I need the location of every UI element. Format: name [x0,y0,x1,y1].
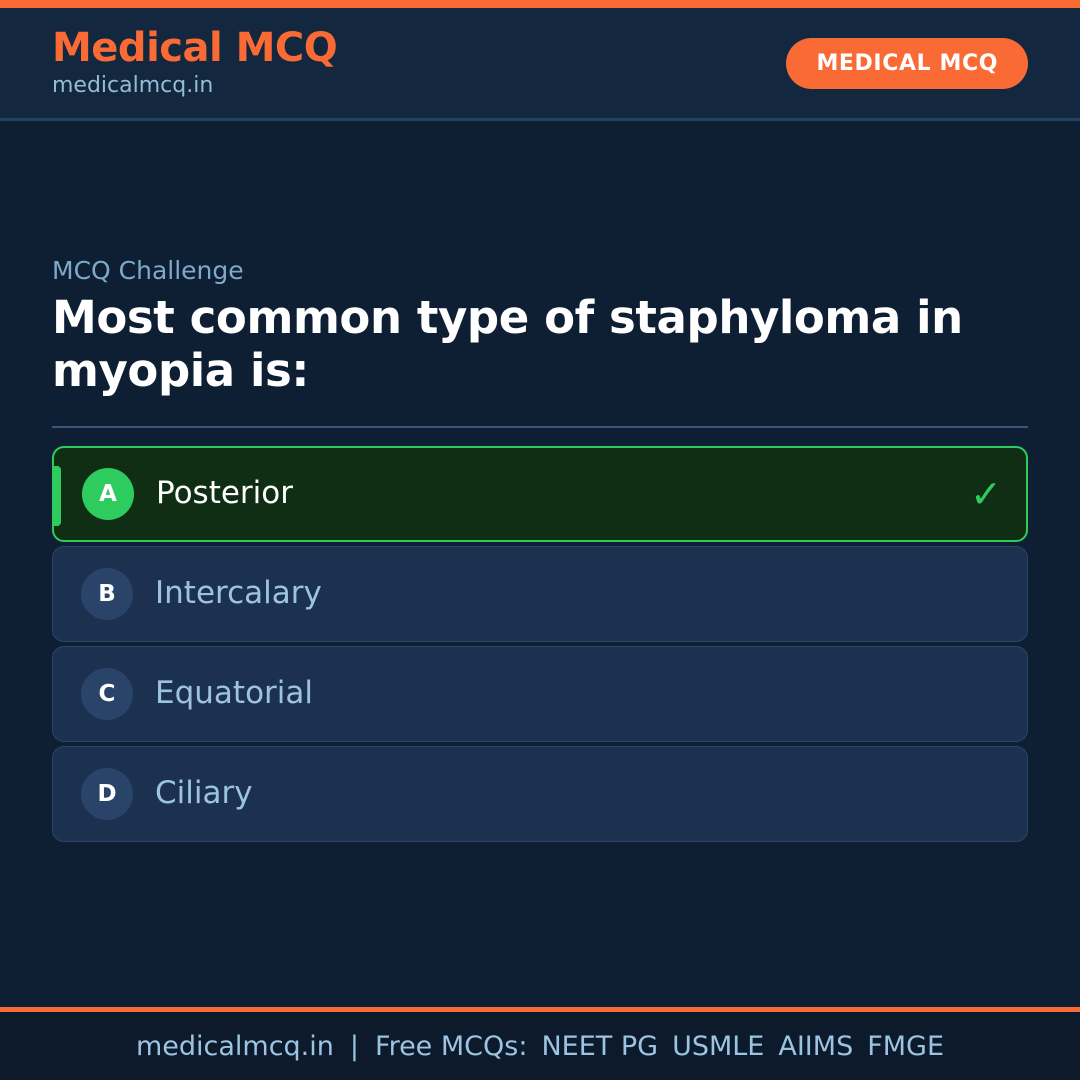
option-letter-badge: D [81,768,133,820]
brand-block: Medical MCQ medicalmcq.in [52,26,337,100]
check-icon: ✓ [970,475,1002,513]
option-letter-badge: C [81,668,133,720]
option-d[interactable]: D Ciliary [52,746,1028,842]
brand-title: Medical MCQ [52,26,337,70]
footer-exam-fmge: FMGE [867,1031,944,1062]
question-divider [52,426,1028,428]
question-text: Most common type of staphyloma in myopia… [52,292,1028,397]
footer-site: medicalmcq.in [136,1031,334,1062]
correct-accent-bar [54,466,61,526]
footer-text: medicalmcq.in|Free MCQs:NEET PGUSMLEAIIM… [136,1031,944,1062]
footer: medicalmcq.in|Free MCQs:NEET PGUSMLEAIIM… [0,1007,1080,1080]
option-c[interactable]: C Equatorial [52,646,1028,742]
brand-subtitle: medicalmcq.in [52,72,337,100]
header-badge: MEDICAL MCQ [786,38,1028,89]
mcq-card: Medical MCQ medicalmcq.in MEDICAL MCQ MC… [0,0,1080,1080]
footer-prefix: Free MCQs: [375,1031,527,1062]
option-label: Intercalary [155,575,322,612]
option-b[interactable]: B Intercalary [52,546,1028,642]
top-accent-bar [0,0,1080,8]
footer-exam-neet: NEET PG [541,1031,658,1062]
option-letter-badge: A [82,468,134,520]
option-a[interactable]: A Posterior ✓ [52,446,1028,542]
option-label: Posterior [156,475,293,512]
option-letter-badge: B [81,568,133,620]
options-list: A Posterior ✓ B Intercalary C Equatorial… [52,446,1028,842]
eyebrow-label: MCQ Challenge [52,256,1028,286]
footer-exam-usmle: USMLE [672,1031,764,1062]
header: Medical MCQ medicalmcq.in MEDICAL MCQ [0,8,1080,121]
footer-separator: | [350,1031,359,1062]
main-content: MCQ Challenge Most common type of staphy… [0,121,1080,1007]
footer-exam-aiims: AIIMS [778,1031,853,1062]
option-label: Ciliary [155,775,253,812]
option-label: Equatorial [155,675,313,712]
